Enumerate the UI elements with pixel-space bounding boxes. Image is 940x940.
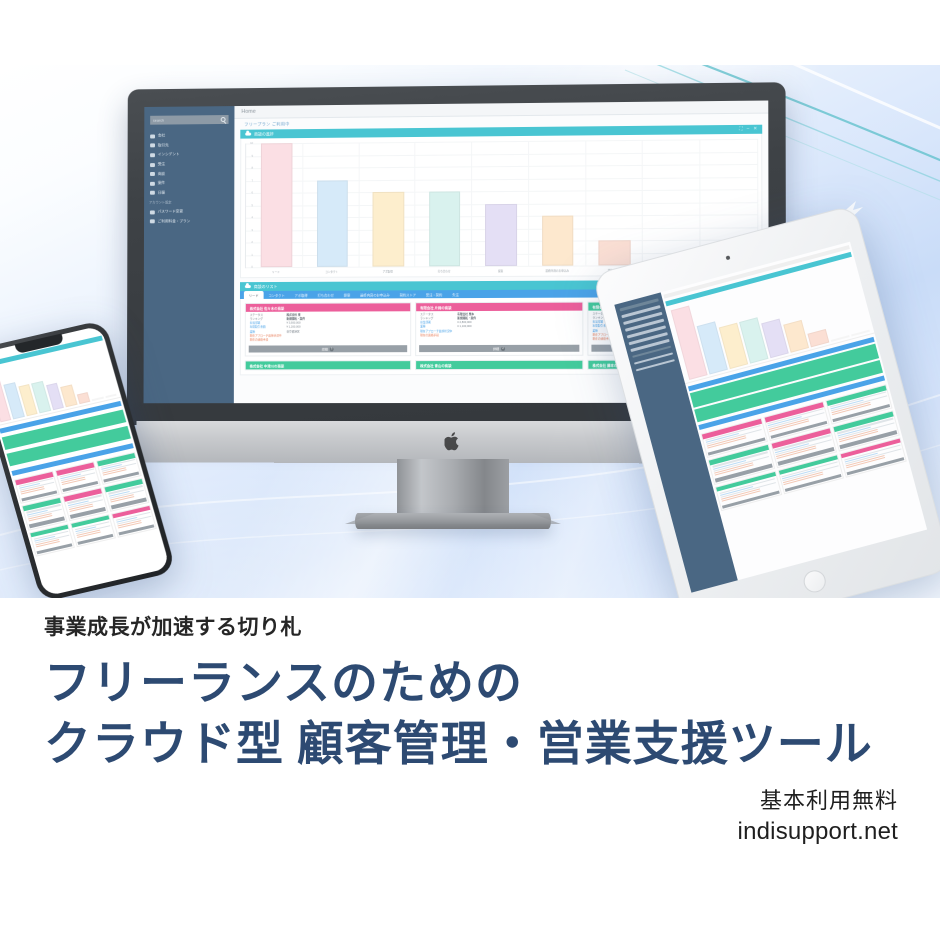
sidebar-item-label: ご利用料金・プラン — [158, 219, 191, 224]
imac-stand-base — [355, 513, 551, 529]
bar-column — [473, 141, 529, 266]
x-axis-label: 打ち合わせ — [416, 267, 472, 276]
alert-icon — [150, 153, 155, 157]
detail-button-label: 詳細 — [493, 346, 499, 350]
case-icon — [150, 182, 155, 186]
free-label: 基本利用無料 — [760, 783, 898, 815]
deal-card-field-value: ¥ 1,200,000 — [286, 327, 305, 330]
tab-item[interactable]: 失注 — [447, 290, 464, 298]
deal-card[interactable]: 有限会社 片岡の商談ステータスランキング担当部署業種現在アプローチ進捗状況中現在… — [415, 302, 583, 357]
detail-count-badge: 2 — [501, 346, 505, 350]
bar-column — [586, 140, 643, 266]
x-axis-label: 最終内容のお申込み — [529, 267, 586, 276]
sidebar-item-label: パスワード変更 — [158, 209, 183, 214]
card-icon — [150, 219, 155, 223]
chart-bar — [105, 394, 117, 398]
chart-bar — [92, 397, 104, 401]
website-url[interactable]: indisupport.net — [738, 818, 898, 846]
deal-card-field-values: 株式会社 東新規開拓・案件¥ 3,500,000¥ 1,200,000東京都港区 — [286, 315, 305, 344]
tab-item[interactable]: 打ち合わせ — [313, 291, 339, 299]
sidebar-item-plan[interactable]: ご利用料金・プラン — [144, 216, 234, 226]
deal-card-field-labels: ステータスランキング担当部署年間取引金額業種現在アプローチ進捗状況中現在の連絡手… — [250, 315, 282, 344]
imac-stand-neck — [397, 459, 509, 521]
tablet-body — [592, 204, 940, 598]
deal-card-body: ステータスランキング担当部署業種現在アプローチ進捗状況中現在の連絡手段有限会社 … — [416, 311, 582, 346]
deal-icon — [150, 172, 155, 176]
sidebar-item-label: 受注 — [158, 162, 165, 167]
chart-bar — [76, 392, 90, 405]
headline-line-1: フリーランスのための — [44, 654, 873, 715]
tab-item[interactable]: リード — [244, 291, 264, 299]
chart-bar — [831, 335, 850, 342]
x-axis-label: コンタクト — [304, 268, 360, 277]
x-axis-label: リード — [248, 268, 304, 277]
deal-card-field-label: 現在の連絡手段 — [420, 335, 452, 338]
tablet-screen — [614, 242, 927, 593]
maximize-icon[interactable]: ⛶ — [739, 127, 742, 132]
chart-bar — [429, 191, 461, 266]
chart-bar — [261, 143, 292, 267]
deal-card-title: 株式会社 青山の商談 — [416, 361, 582, 369]
deal-card[interactable]: 株式会社 青山の商談 — [415, 360, 583, 370]
sidebar-item-label: インシデント — [158, 153, 180, 158]
cloud-icon — [245, 132, 251, 136]
close-icon[interactable]: ✕ — [753, 127, 757, 132]
deal-card-field-label: 現在アプローチ進捗状況中 — [420, 331, 452, 334]
tab-item[interactable]: 最終内容のお申込み — [355, 291, 394, 299]
list-panel-title: 商談のリスト — [254, 283, 278, 289]
page-title: Home — [241, 109, 255, 115]
bar-column — [360, 142, 416, 267]
sidebar-section-label: アカウント設定 — [149, 200, 172, 205]
search-input[interactable]: search — [150, 115, 228, 125]
cloud-icon — [245, 285, 251, 289]
deal-card-field-label: 現在の連絡手段 — [250, 339, 282, 342]
tablet-dashboard — [614, 242, 927, 593]
building-icon — [150, 134, 155, 138]
chart-bar — [373, 192, 404, 267]
chart-bar — [807, 329, 829, 348]
sidebar-item-label: 案件 — [158, 181, 165, 186]
chart-bar — [851, 330, 870, 337]
deal-card-field-label: 業種 — [250, 331, 282, 334]
sidebar-item-label: 商談 — [158, 172, 165, 177]
tab-item[interactable]: アポ取得 — [290, 291, 313, 299]
order-icon — [150, 163, 155, 167]
bar-column — [249, 143, 305, 267]
deal-card-title: 株式会社 中津川の商談 — [246, 361, 410, 369]
chart-bar — [542, 216, 574, 266]
chart-bar — [598, 240, 630, 265]
detail-button-label: 詳細 — [322, 347, 328, 351]
bar-column — [643, 139, 700, 265]
tab-item[interactable]: コンタクト — [264, 291, 290, 299]
person-icon — [150, 144, 155, 148]
sidebar[interactable]: search 会社 取引先 インシデント — [144, 106, 235, 403]
deal-card-field-value: 東京都港区 — [286, 331, 305, 334]
sidebar-item-label: 会社 — [158, 134, 165, 139]
lock-icon — [150, 210, 155, 214]
deal-card-field-value: ¥ 1,100,000 — [457, 326, 476, 329]
home-button[interactable] — [801, 568, 828, 595]
deal-card[interactable]: 株式会社 中津川の商談 — [245, 360, 411, 370]
sidebar-item-label: 日報 — [158, 191, 165, 196]
deal-card-body: ステータスランキング担当部署年間取引金額業種現在アプローチ進捗状況中現在の連絡手… — [246, 311, 410, 345]
detail-count-badge: 3 — [330, 347, 334, 351]
sidebar-item-label: 取引先 — [158, 143, 169, 148]
chart-panel-title: 商談の進捗 — [254, 131, 274, 137]
bar-column — [529, 140, 586, 265]
tab-item[interactable]: 契約ストア — [395, 291, 421, 299]
bar-column — [417, 141, 473, 266]
deal-card-detail-button[interactable]: 詳細2 — [419, 345, 579, 352]
x-axis-label: 提案 — [472, 267, 529, 276]
bar-chart: 012345678910 — [245, 139, 757, 268]
search-placeholder: search — [153, 118, 164, 122]
deal-card-field-label: 業種 — [420, 326, 452, 329]
kicker-text: 事業成長が加速する切り札 — [44, 611, 302, 641]
deal-card[interactable]: 株式会社 佐々木の商談ステータスランキング担当部署年間取引金額業種現在アプローチ… — [245, 302, 411, 356]
deal-card-field-values: 有限会社 栗本新規開拓・案件¥ 2,800,000¥ 1,100,000 — [457, 314, 476, 343]
page-headline: フリーランスのための クラウド型 顧客管理・営業支援ツール — [44, 654, 873, 776]
headline-line-2: クラウド型 顧客管理・営業支援ツール — [44, 715, 873, 776]
bar-column — [305, 142, 361, 266]
report-icon — [150, 191, 155, 195]
chart-bar — [485, 203, 517, 266]
tab-item[interactable]: 提案 — [339, 291, 355, 299]
apple-logo — [445, 431, 462, 452]
front-camera-icon — [726, 255, 731, 260]
chart-bar — [317, 180, 348, 267]
tab-item[interactable]: 受注・契約 — [421, 290, 447, 298]
hero-image-band: search 会社 取引先 インシデント — [0, 65, 940, 598]
search-icon — [221, 117, 226, 122]
deal-card-field-label: 年間取引金額 — [250, 327, 282, 330]
x-axis-label: アポ取得 — [360, 267, 416, 276]
tablet-device — [592, 204, 940, 598]
deal-card-detail-button[interactable]: 詳細3 — [249, 345, 407, 352]
minimize-icon[interactable]: ‒ — [747, 127, 750, 132]
deal-card-field-labels: ステータスランキング担当部署業種現在アプローチ進捗状況中現在の連絡手段 — [420, 314, 452, 343]
